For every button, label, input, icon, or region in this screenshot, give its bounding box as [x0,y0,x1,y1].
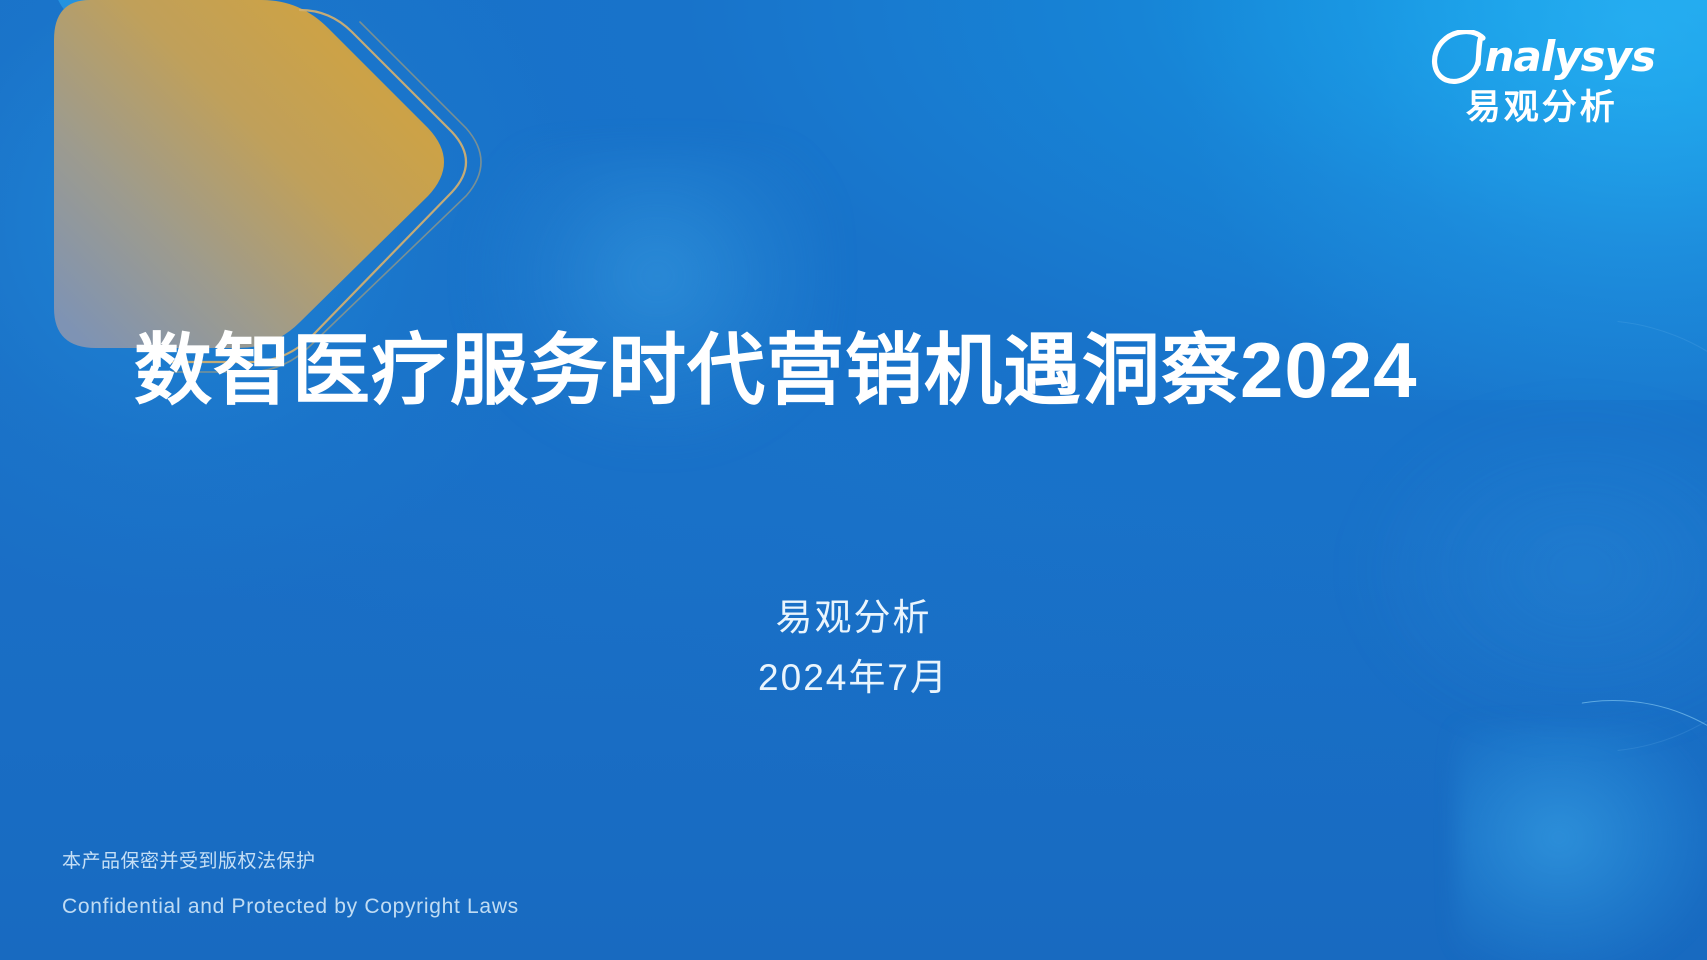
subtitle-organization: 易观分析 [0,588,1707,648]
logo-mark: nalysys [1429,30,1655,84]
footer-notice-chinese: 本产品保密并受到版权法保护 [62,852,519,873]
subtitle-date: 2024年7月 [0,648,1707,708]
logo-chinese-name: 易观分析 [1429,90,1655,125]
background-gradient [0,0,1707,960]
analysys-logo: nalysys 易观分析 [1429,30,1655,125]
footer-notice-english: Confidential and Protected by Copyright … [62,895,519,918]
slide-title: 数智医疗服务时代营销机遇洞察2024 [134,328,1584,412]
footer-notice: 本产品保密并受到版权法保护 Confidential and Protected… [62,852,519,918]
title-slide: nalysys 易观分析 数智医疗服务时代营销机遇洞察2024 易观分析 202… [0,0,1707,960]
slide-subtitle: 易观分析 2024年7月 [0,588,1707,708]
logo-swoosh-icon [1429,30,1491,84]
logo-wordmark: nalysys [1485,36,1655,78]
